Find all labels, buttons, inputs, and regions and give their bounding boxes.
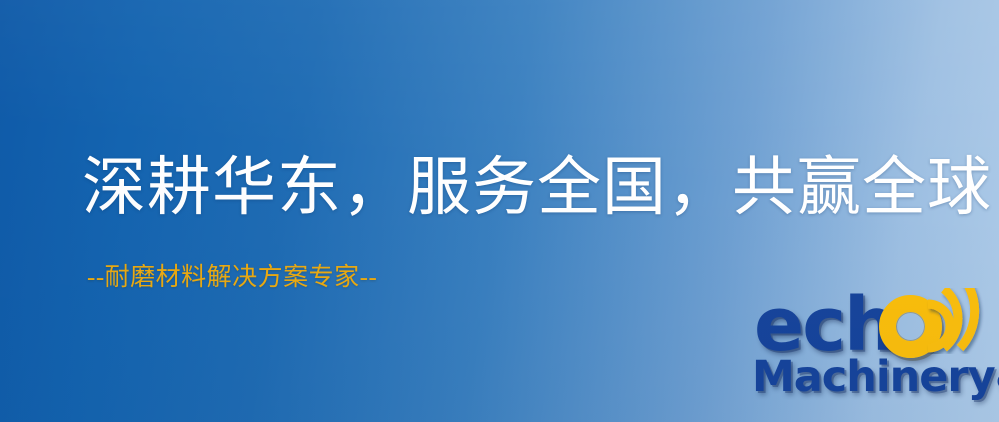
logo-wordmark-ech: ech (754, 288, 895, 362)
banner-subtitle: --耐磨材料解决方案专家-- (87, 262, 377, 294)
logo-tagline-text: Machinery (752, 352, 995, 402)
registered-trademark-mark: ® (995, 370, 999, 394)
brand-logo[interactable]: ech Machinery® (748, 292, 999, 422)
logo-tagline: Machinery® (752, 354, 999, 405)
hero-banner: 深耕华东，服务全国，共赢全球 --耐磨材料解决方案专家-- ech Machin… (0, 0, 999, 422)
banner-headline: 深耕华东，服务全国，共赢全球 (82, 152, 992, 224)
echo-waves-icon (924, 288, 996, 354)
